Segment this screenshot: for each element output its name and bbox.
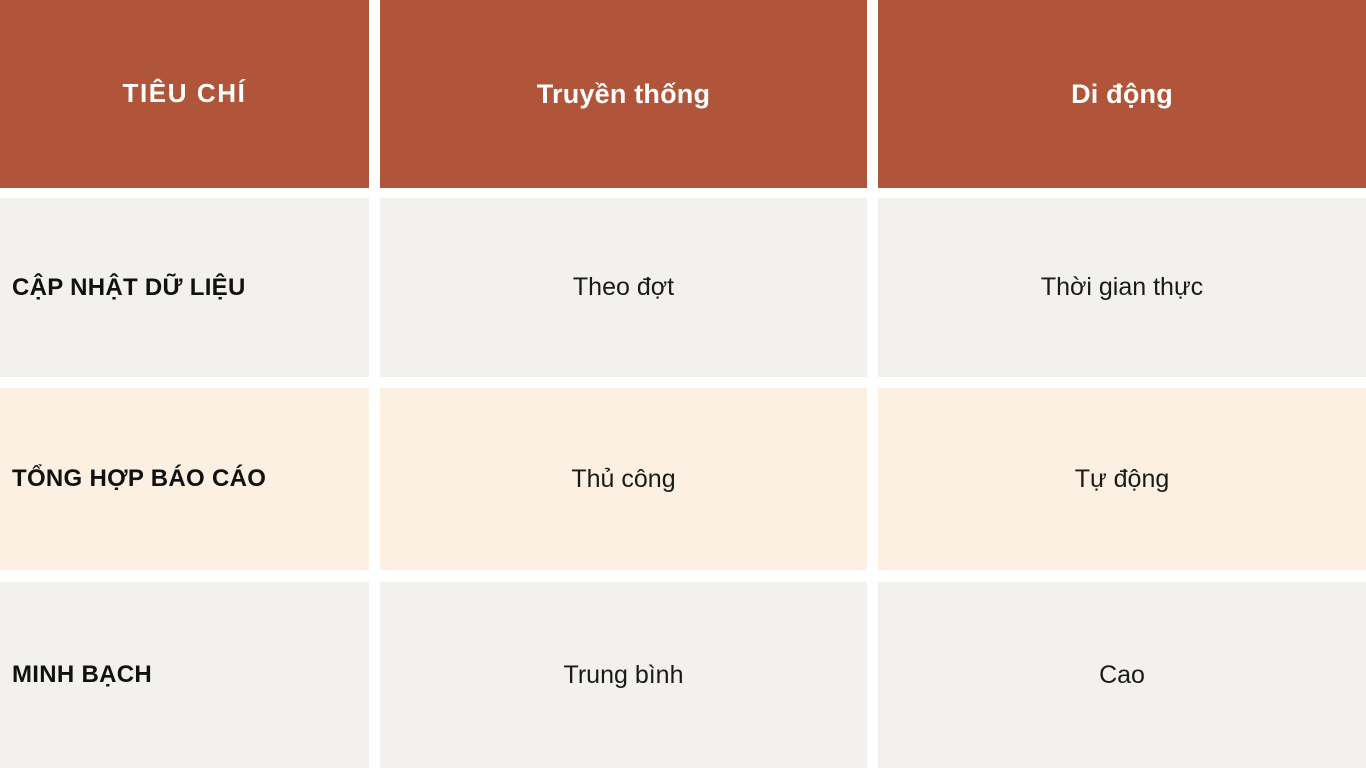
row-gutter-header-cross-2 [380,188,867,198]
column-gutter-2 [867,0,878,188]
row-3-traditional-value: Trung bình [564,659,684,692]
row-gutter-header-cross-4 [878,188,1366,198]
row-2-mobile-value: Tự động [1075,463,1170,496]
table-header-traditional-label: Truyền thống [537,78,710,110]
row-gutter-2-cross-3 [867,570,878,582]
table-header-criteria-label: TIÊU CHÍ [122,78,246,109]
row-3-mobile-value: Cao [1099,659,1145,692]
row-3-mobile-cell: Cao [878,582,1366,768]
row-2-gutter-1 [369,388,380,570]
row-gutter-1-cross-3 [867,377,878,388]
table-header-mobile-label: Di động [1071,78,1173,110]
row-1-traditional-value: Theo đợt [573,271,674,304]
row-1-mobile-cell: Thời gian thực [878,198,1366,377]
table-row: TỔNG HỢP BÁO CÁO [0,388,369,570]
row-gutter-header [0,188,369,198]
row-2-gutter-2 [867,388,878,570]
row-gutter-2 [0,570,369,582]
row-2-traditional-value: Thủ công [571,463,675,496]
row-gutter-1-cross-1 [369,377,380,388]
row-gutter-2-cross-4 [878,570,1366,582]
row-gutter-2-cross-1 [369,570,380,582]
row-3-criteria-label: MINH BẠCH [12,660,152,690]
row-gutter-header-cross-3 [867,188,878,198]
table-row: CẬP NHẬT DỮ LIỆU [0,198,369,377]
row-1-mobile-value: Thời gian thực [1041,271,1203,304]
table-header-traditional: Truyền thống [380,0,867,188]
row-3-traditional-cell: Trung bình [380,582,867,768]
row-1-gutter-2 [867,198,878,377]
table-header-criteria: TIÊU CHÍ [0,0,369,188]
comparison-table: TIÊU CHÍ Truyền thống Di động CẬP NHẬT D… [0,0,1366,768]
row-3-gutter-2 [867,582,878,768]
row-1-traditional-cell: Theo đợt [380,198,867,377]
row-gutter-1-cross-4 [878,377,1366,388]
row-2-criteria-label: TỔNG HỢP BÁO CÁO [12,464,266,494]
row-gutter-1 [0,377,369,388]
table-row: MINH BẠCH [0,582,369,768]
row-1-criteria-label: CẬP NHẬT DỮ LIỆU [12,273,246,303]
row-1-gutter-1 [369,198,380,377]
column-gutter-1 [369,0,380,188]
row-gutter-1-cross-2 [380,377,867,388]
row-gutter-2-cross-2 [380,570,867,582]
row-2-mobile-cell: Tự động [878,388,1366,570]
row-gutter-header-cross-1 [369,188,380,198]
row-3-gutter-1 [369,582,380,768]
table-header-mobile: Di động [878,0,1366,188]
row-2-traditional-cell: Thủ công [380,388,867,570]
